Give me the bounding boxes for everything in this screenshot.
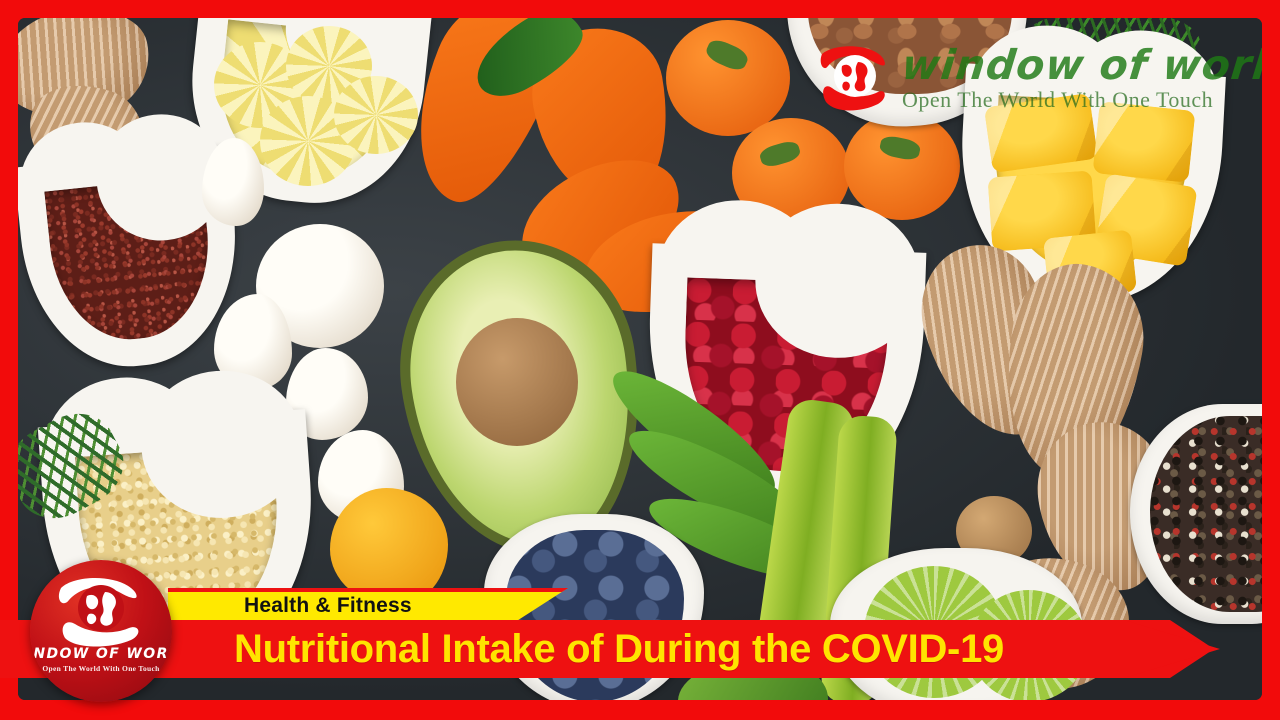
kicker-tag: Health & Fitness: [168, 588, 568, 624]
mango-chunk: [1092, 101, 1195, 183]
lemon-slice: [334, 76, 418, 154]
image-frame: window of world Open The World With One …: [0, 0, 1280, 720]
logo-tagline: Open The World With One Touch: [42, 664, 159, 673]
persimmon: [666, 20, 790, 136]
headline-banner: Nutritional Intake of During the COVID-1…: [0, 620, 1220, 678]
globe-icon: [55, 574, 147, 648]
avocado-pit: [456, 318, 578, 446]
kicker-label: Health & Fitness: [244, 594, 412, 618]
persimmon: [844, 112, 960, 220]
logo-brand-name: WINDOW OF WORLD: [30, 646, 172, 662]
brand-logo-badge[interactable]: WINDOW OF WORLD Open The World With One …: [30, 560, 172, 702]
headline-text: Nutritional Intake of During the COVID-1…: [234, 627, 1004, 672]
